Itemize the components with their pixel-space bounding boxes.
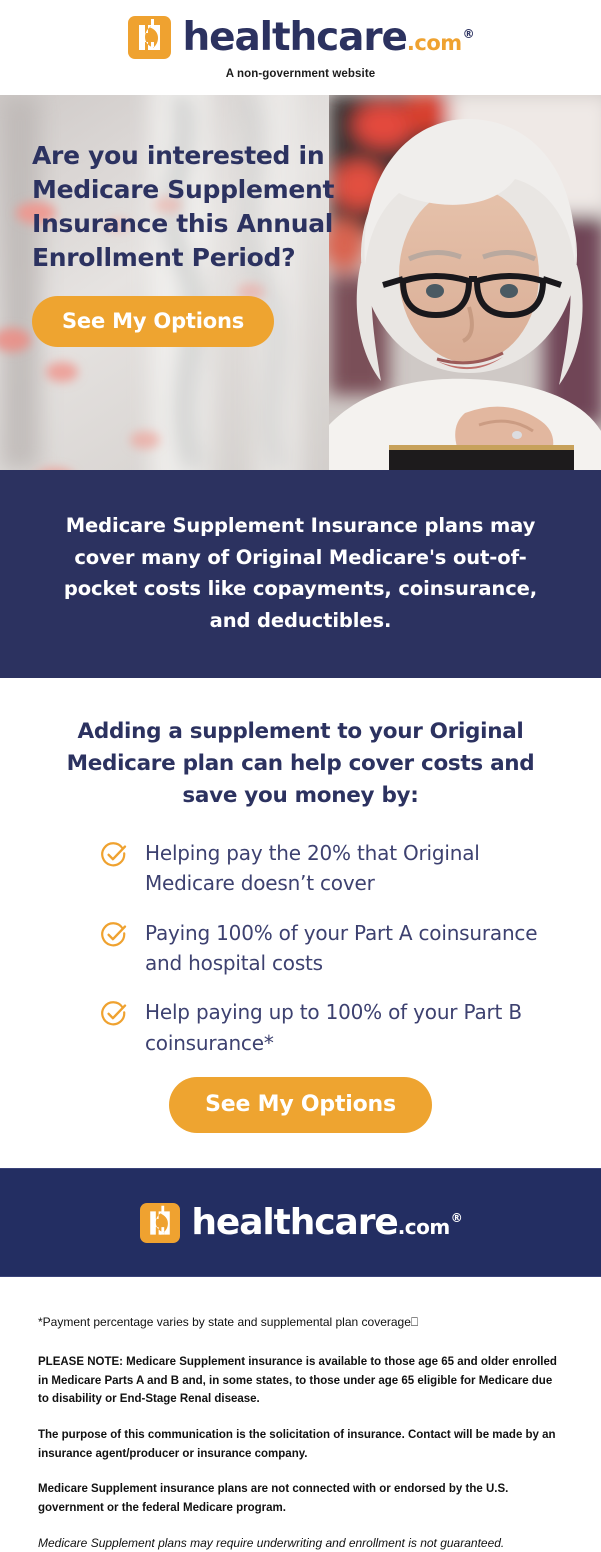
list-item: Paying 100% of your Part A coinsurance a… [100, 918, 553, 979]
footer-wordmark: healthcare.com® [191, 1205, 460, 1241]
benefit-text: Help paying up to 100% of your Part B co… [145, 997, 553, 1058]
wordmark-dotcom: .com [398, 1217, 450, 1237]
page-header: healthcare.com® A non-government website [0, 0, 601, 95]
benefits-cta-container: See My Options [48, 1077, 553, 1133]
check-circle-icon [100, 921, 128, 949]
payment-note: *Payment percentage varies by state and … [38, 1313, 563, 1331]
benefits-list: Helping pay the 20% that Original Medica… [100, 838, 553, 1058]
non-government-disclaimer: A non-government website [226, 68, 376, 80]
disclaimer-section: *Payment percentage varies by state and … [0, 1277, 601, 1552]
healthcare-logo-icon [128, 16, 171, 59]
list-item: Help paying up to 100% of your Part B co… [100, 997, 553, 1058]
wordmark-dotcom: .com [407, 33, 462, 54]
healthcare-logo-icon [140, 1203, 180, 1243]
hero-portrait-photo [329, 95, 601, 470]
registered-mark: ® [463, 28, 474, 40]
hero-headline: Are you interested in Medicare Supplemen… [32, 139, 362, 275]
underwriting-text: Medicare Supplement plans may require un… [38, 1534, 563, 1552]
statement-band: Medicare Supplement Insurance plans may … [0, 470, 601, 678]
please-note-text: PLEASE NOTE: Medicare Supplement insuran… [38, 1353, 563, 1409]
footer-logo-band: healthcare.com® [0, 1168, 601, 1277]
wordmark-name: healthcare [191, 1205, 397, 1241]
registered-mark: ® [451, 1212, 462, 1224]
benefit-text: Paying 100% of your Part A coinsurance a… [145, 918, 553, 979]
purpose-text: The purpose of this communication is the… [38, 1426, 563, 1463]
hero-see-my-options-button[interactable]: See My Options [32, 296, 274, 347]
benefits-see-my-options-button[interactable]: See My Options [169, 1077, 432, 1133]
hero-content: Are you interested in Medicare Supplemen… [32, 139, 362, 347]
check-circle-icon [100, 1000, 128, 1028]
check-circle-icon [100, 841, 128, 869]
header-logo[interactable]: healthcare.com® [128, 16, 472, 59]
not-connected-text: Medicare Supplement insurance plans are … [38, 1480, 563, 1517]
footer-logo[interactable]: healthcare.com® [140, 1203, 460, 1243]
list-item: Helping pay the 20% that Original Medica… [100, 838, 553, 899]
benefit-text: Helping pay the 20% that Original Medica… [145, 838, 553, 899]
benefits-section: Adding a supplement to your Original Med… [0, 678, 601, 1133]
hero-banner: Are you interested in Medicare Supplemen… [0, 95, 601, 470]
statement-text: Medicare Supplement Insurance plans may … [44, 510, 557, 636]
wordmark-name: healthcare [182, 18, 406, 57]
header-wordmark: healthcare.com® [182, 18, 472, 57]
benefits-heading: Adding a supplement to your Original Med… [48, 716, 553, 811]
email-page: healthcare.com® A non-government website [0, 0, 601, 1533]
